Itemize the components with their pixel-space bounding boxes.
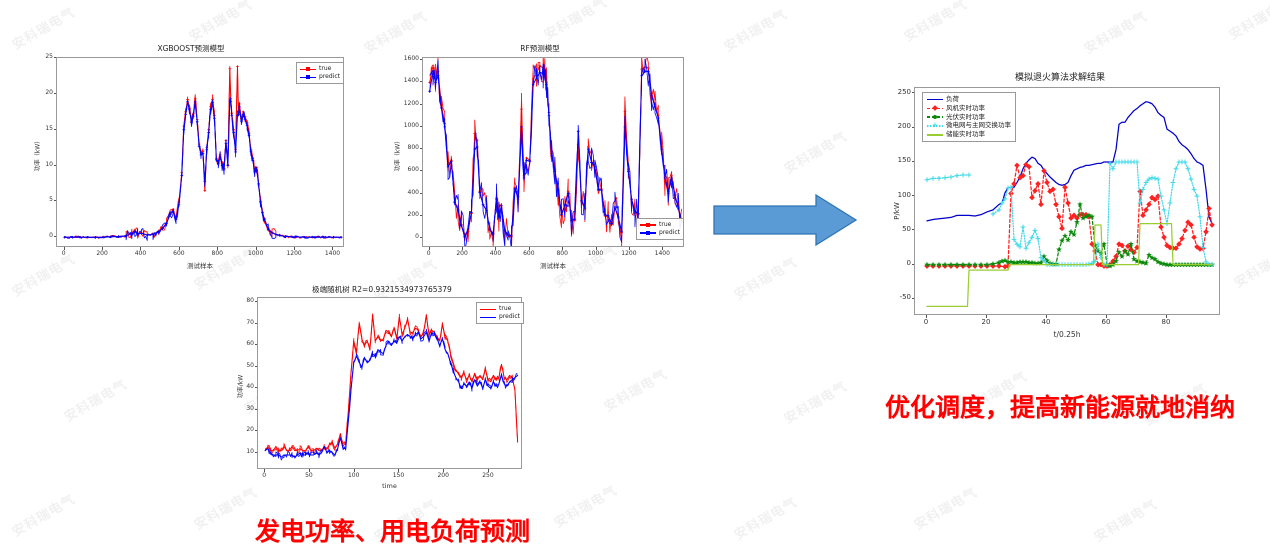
y-tick: 200 (398, 211, 419, 218)
watermark: 安科瑞电气 (910, 482, 980, 533)
x-tick-mark (1166, 315, 1167, 318)
y-tick: 200 (890, 122, 911, 130)
y-tick: 80 (233, 297, 254, 304)
y-tick: 15 (32, 125, 53, 132)
y-tick: 40 (233, 383, 254, 390)
x-tick: 600 (515, 250, 543, 257)
x-tick-mark (1046, 315, 1047, 318)
y-tick-mark (420, 170, 423, 171)
y-tick-mark (420, 126, 423, 127)
legend-item: true (480, 305, 520, 313)
y-tick: 5 (32, 196, 53, 203)
x-tick-mark (596, 247, 597, 250)
x-tick-mark (217, 247, 218, 250)
chart-canvas (57, 58, 344, 247)
x-tick-mark (294, 247, 295, 250)
x-tick: 150 (384, 472, 412, 479)
watermark: 安科瑞电气 (780, 126, 850, 177)
legend-swatch-predict (480, 314, 496, 321)
x-tick-mark (140, 247, 141, 250)
x-tick: 1400 (648, 250, 676, 257)
x-tick: 1400 (318, 250, 346, 257)
x-tick: 40 (1032, 318, 1060, 326)
chart-legend: true predict (296, 62, 344, 84)
chart-legend: true predict (476, 302, 524, 324)
legend-item: true (640, 221, 680, 229)
y-tick-mark (54, 129, 57, 130)
legend-item: 风机实时功率 (927, 104, 1011, 113)
y-tick-mark (255, 323, 258, 324)
watermark: 安科瑞电气 (185, 0, 255, 45)
legend-swatch-pv (927, 113, 943, 120)
x-tick: 600 (165, 250, 193, 257)
y-tick: 70 (233, 319, 254, 326)
y-tick-mark (255, 430, 258, 431)
legend-label: predict (319, 73, 340, 81)
x-tick: 20 (972, 318, 1000, 326)
x-tick: 800 (203, 250, 231, 257)
y-tick-mark (255, 452, 258, 453)
legend-item: 储能实时功率 (927, 130, 1011, 139)
x-tick-mark (488, 469, 489, 472)
watermark: 安科瑞电气 (600, 364, 670, 415)
x-tick-mark (662, 247, 663, 250)
legend-item: 光伏实时功率 (927, 113, 1011, 122)
y-tick-mark (420, 237, 423, 238)
y-tick-mark (420, 104, 423, 105)
legend-label: 风机实时功率 (946, 104, 985, 113)
y-tick-mark (54, 93, 57, 94)
x-tick: 100 (340, 472, 368, 479)
y-tick-mark (912, 195, 915, 196)
x-tick-mark (495, 247, 496, 250)
y-tick: 0 (398, 233, 419, 240)
y-tick: 25 (32, 53, 53, 60)
y-tick-mark (420, 148, 423, 149)
x-tick: 80 (1152, 318, 1180, 326)
x-tick-mark (398, 469, 399, 472)
legend-swatch-true (640, 221, 656, 228)
legend-label: predict (499, 313, 520, 321)
y-tick: 150 (890, 156, 911, 164)
legend-item: true (300, 65, 340, 73)
right-arrow-icon (712, 192, 858, 248)
y-tick: 0 (890, 259, 911, 267)
x-tick: 800 (548, 250, 576, 257)
x-tick: 200 (448, 250, 476, 257)
legend-label: true (499, 305, 511, 313)
chart-legend: 负荷 风机实时功率 光伏实时功率 + 微电网与主网交换功率 储能实时 (922, 92, 1016, 142)
legend-label: true (659, 221, 671, 229)
x-tick: 200 (88, 250, 116, 257)
y-tick: 100 (890, 191, 911, 199)
y-tick-mark (912, 127, 915, 128)
y-tick: 50 (233, 362, 254, 369)
watermark: 安科瑞电气 (60, 374, 130, 425)
x-axis-label: time (257, 482, 522, 490)
caption-right: 优化调度，提高新能源就地消纳 (860, 388, 1260, 424)
y-tick: 600 (398, 166, 419, 173)
y-axis-label: 功率（kW） (33, 130, 42, 180)
legend-swatch-predict (300, 74, 316, 81)
y-tick: 400 (398, 189, 419, 196)
y-tick-mark (420, 193, 423, 194)
legend-label: true (319, 65, 331, 73)
caption-left: 发电功率、用电负荷预测 (220, 512, 565, 548)
watermark: 安科瑞电气 (540, 0, 610, 43)
y-tick: 800 (398, 144, 419, 151)
legend-item: + 微电网与主网交换功率 (927, 121, 1011, 130)
y-tick-mark (54, 57, 57, 58)
watermark: 安科瑞电气 (720, 4, 790, 55)
x-tick: 1200 (615, 250, 643, 257)
chart-title: 极端随机树 R2=0.9321534973765379 (232, 284, 532, 295)
x-tick-mark (102, 247, 103, 250)
legend-swatch-predict (640, 229, 656, 236)
legend-item: predict (640, 229, 680, 237)
x-axis-label: t/0.25h (914, 330, 1220, 339)
x-tick: 400 (126, 250, 154, 257)
x-tick-mark (264, 469, 265, 472)
x-tick-mark (562, 247, 563, 250)
x-tick: 250 (474, 472, 502, 479)
legend-swatch-load (927, 96, 943, 103)
legend-swatch-wind (927, 105, 943, 112)
y-tick: 20 (32, 89, 53, 96)
x-tick-mark (179, 247, 180, 250)
legend-label: 光伏实时功率 (946, 113, 985, 122)
y-tick: 1400 (398, 77, 419, 84)
y-tick: 0 (32, 232, 53, 239)
y-tick-mark (420, 81, 423, 82)
y-tick-mark (54, 165, 57, 166)
legend-label: predict (659, 229, 680, 237)
plot-area (56, 57, 344, 247)
y-tick: 30 (233, 405, 254, 412)
y-tick: 60 (233, 340, 254, 347)
y-tick: -50 (890, 293, 911, 301)
y-tick-mark (255, 409, 258, 410)
y-tick-mark (912, 92, 915, 93)
y-tick-mark (912, 229, 915, 230)
x-tick-mark (986, 315, 987, 318)
legend-swatch-true (480, 306, 496, 313)
watermark: 安科瑞电气 (780, 376, 850, 427)
y-tick-mark (912, 264, 915, 265)
y-tick-mark (255, 344, 258, 345)
y-tick: 1000 (398, 122, 419, 129)
x-tick: 1000 (242, 250, 270, 257)
legend-swatch-grid-exchange: + (927, 122, 943, 129)
y-tick: 10 (32, 161, 53, 168)
x-axis-label: 测试样本 (56, 260, 344, 270)
x-tick-mark (1106, 315, 1107, 318)
x-tick-mark (309, 469, 310, 472)
watermark: 安科瑞电气 (900, 0, 970, 45)
x-tick-mark (354, 469, 355, 472)
chart-xgboost: XGBOOST预测模型 功率（kW） 测试样本 true predict 051… (30, 40, 352, 280)
x-tick-mark (332, 247, 333, 250)
y-tick-mark (255, 301, 258, 302)
x-tick-mark (443, 469, 444, 472)
y-tick: 20 (233, 426, 254, 433)
legend-label: 微电网与主网交换功率 (946, 121, 1011, 130)
legend-item: predict (300, 73, 340, 81)
legend-swatch-storage (927, 131, 943, 138)
y-tick: 250 (890, 88, 911, 96)
legend-item: 负荷 (927, 95, 1011, 104)
watermark: 安科瑞电气 (8, 489, 78, 540)
watermark: 安科瑞电气 (1090, 494, 1160, 545)
x-tick: 0 (250, 472, 278, 479)
x-tick: 50 (295, 472, 323, 479)
x-tick-mark (64, 247, 65, 250)
x-tick-mark (529, 247, 530, 250)
x-tick: 0 (912, 318, 940, 326)
y-tick-mark (255, 387, 258, 388)
x-tick: 400 (481, 250, 509, 257)
y-tick: 1200 (398, 100, 419, 107)
chart-title: RF预测模型 (390, 43, 690, 54)
x-tick: 1000 (582, 250, 610, 257)
x-tick: 0 (415, 250, 443, 257)
chart-title: XGBOOST预测模型 (30, 43, 352, 54)
y-tick-mark (255, 366, 258, 367)
chart-rf: RF预测模型 功率（kW） 测试样本 true predict 02004006… (390, 40, 690, 280)
chart-extra-trees: 极端随机树 R2=0.9321534973765379 功率/kW time t… (232, 282, 532, 507)
x-tick-mark (629, 247, 630, 250)
x-axis-label: 测试样本 (422, 260, 684, 270)
right-arrow (712, 192, 858, 248)
y-tick: 10 (233, 448, 254, 455)
y-tick-mark (420, 59, 423, 60)
x-tick: 1200 (280, 250, 308, 257)
x-tick: 60 (1092, 318, 1120, 326)
x-tick: 0 (50, 250, 78, 257)
y-tick: 1600 (398, 55, 419, 62)
x-tick-mark (462, 247, 463, 250)
watermark: 安科瑞电气 (730, 252, 800, 303)
legend-label: 储能实时功率 (946, 130, 985, 139)
y-tick-mark (54, 200, 57, 201)
watermark: 安科瑞电气 (730, 492, 800, 543)
chart-title: 模拟退火算法求解结果 (880, 70, 1240, 83)
y-tick: 50 (890, 225, 911, 233)
watermark: 安科瑞电气 (1225, 0, 1270, 43)
x-tick-mark (429, 247, 430, 250)
chart-legend: true predict (636, 218, 684, 240)
y-tick-mark (912, 298, 915, 299)
x-tick-mark (926, 315, 927, 318)
y-tick-mark (54, 236, 57, 237)
x-tick: 200 (429, 472, 457, 479)
legend-item: predict (480, 313, 520, 321)
y-tick-mark (420, 215, 423, 216)
y-tick-mark (912, 161, 915, 162)
chart-sa-result: 模拟退火算法求解结果 P/kW t/0.25h 负荷 风机实时功率 光伏实时功率 (880, 62, 1240, 362)
watermark: 安科瑞电气 (1080, 6, 1150, 57)
x-tick-mark (256, 247, 257, 250)
legend-swatch-true (300, 66, 316, 73)
legend-label: 负荷 (946, 95, 959, 104)
